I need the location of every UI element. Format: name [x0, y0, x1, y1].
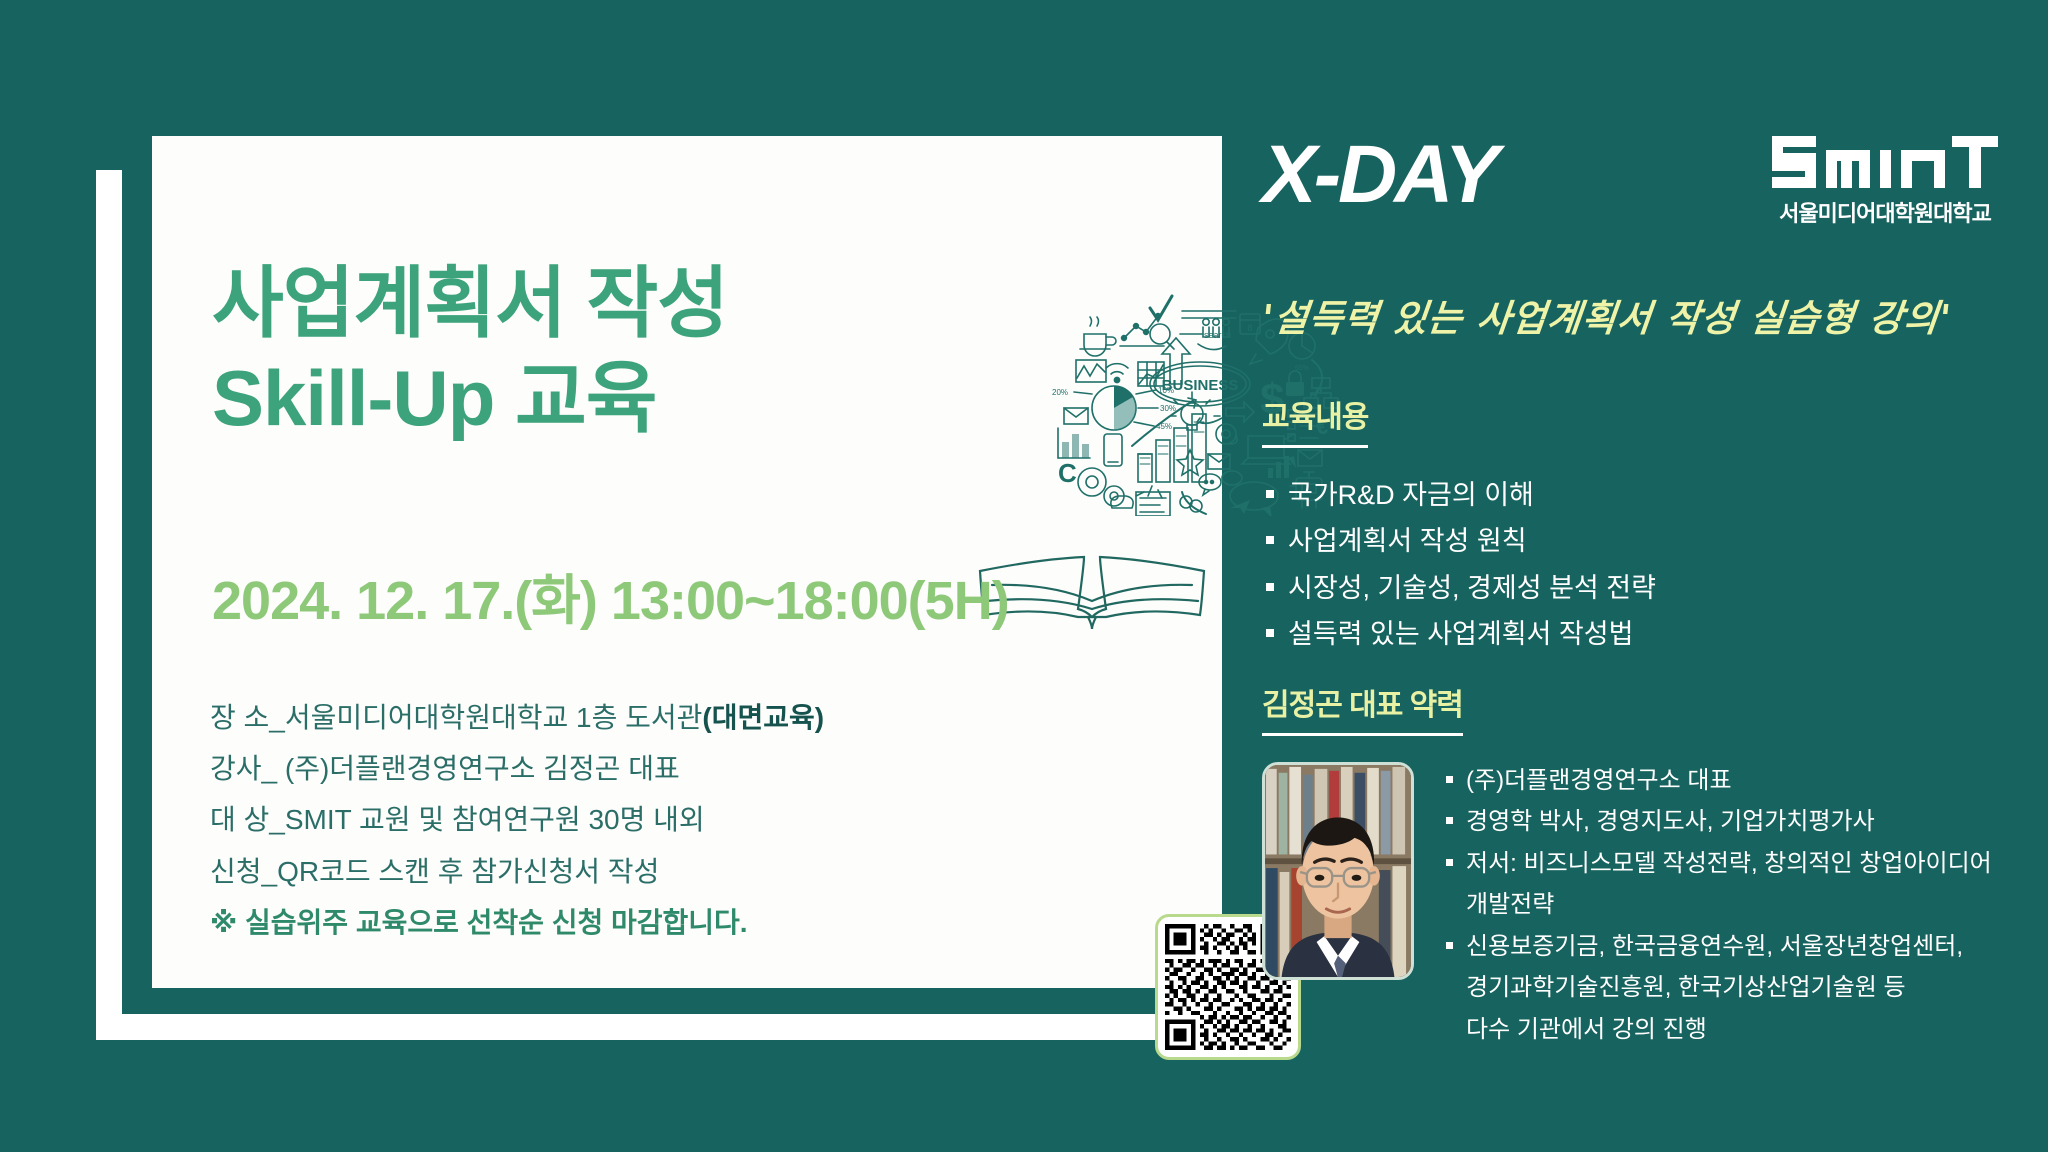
event-datetime: 2024. 12. 17.(화) 13:00~18:00(5H) [212, 556, 1009, 635]
smit-wordmark-icon [1770, 128, 2000, 190]
avatar [1262, 762, 1414, 980]
list-item: 저서: 비즈니스모델 작성전략, 창의적인 창업아이디어 [1442, 845, 1992, 882]
bio-item-continuation: 경기과학기술진흥원, 한국기상산업기술원 등 [1442, 969, 1992, 1006]
svg-text:30%: 30% [1160, 404, 1176, 413]
venue-mode-badge: (대면교육) [702, 702, 824, 733]
list-item: 경영학 박사, 경영지도사, 기업가치평가사 [1442, 803, 1992, 840]
frame-accent-vertical [96, 170, 122, 1040]
smit-logo: 서울미디어대학원대학교 [1770, 128, 2000, 228]
event-details: 장 소_서울미디어대학원대학교 1층 도서관(대면교육) 강사_ (주)더플랜경… [210, 692, 824, 948]
svg-text:10%: 10% [1158, 386, 1174, 395]
right-panel: X-DAY 서울미디어대학원대학교 '설득력 있는 사업계획서 작성 실습형 강… [1262, 0, 2022, 1152]
poster-root: BUSINESS search 8 [0, 0, 2048, 1152]
list-item: 사업계획서 작성 원칙 [1262, 518, 1656, 564]
detail-row-apply: 신청_QR코드 스캔 후 참가신청서 작성 [210, 846, 824, 897]
curriculum-section: 교육내용 국가R&D 자금의 이해 사업계획서 작성 원칙 시장성, 기술성, … [1262, 392, 1656, 658]
frame-accent-horizontal [96, 1014, 1180, 1040]
svg-text:search: search [1204, 330, 1231, 340]
bio-heading: 김정곤 대표 약력 [1262, 680, 1463, 736]
detail-row-instructor: 강사_ (주)더플랜경영연구소 김정곤 대표 [210, 743, 824, 794]
svg-text:C: C [1058, 458, 1077, 488]
main-info-card: BUSINESS search 8 [152, 136, 1222, 988]
detail-row-notice: ※ 실습위주 교육으로 선착순 신청 마감합니다. [210, 897, 824, 948]
bio-list: (주)더플랜경영연구소 대표 경영학 박사, 경영지도사, 기업가치평가사 저서… [1442, 762, 1992, 1052]
svg-text:20%: 20% [1052, 388, 1068, 397]
list-item: 설득력 있는 사업계획서 작성법 [1262, 611, 1656, 657]
list-item: 국가R&D 자금의 이해 [1262, 472, 1656, 518]
instructor-bio-section: 김정곤 대표 약력 [1262, 680, 2022, 1052]
svg-text:8: 8 [1247, 323, 1252, 333]
page-title: 사업계획서 작성 Skill-Up 교육 [212, 256, 728, 446]
list-item: 시장성, 기술성, 경제성 분석 전략 [1262, 565, 1656, 611]
list-item: 신용보증기금, 한국금융연수원, 서울장년창업센터, [1442, 928, 1992, 965]
headline-line-2: Skill-Up 교육 [212, 351, 728, 446]
bio-item-continuation: 개발전략 [1442, 886, 1992, 923]
curriculum-heading: 교육내용 [1262, 392, 1368, 448]
bio-item-line1: 신용보증기금, 한국금융연수원, 서울장년창업센터, [1466, 933, 1963, 960]
bio-item-line1: 저서: 비즈니스모델 작성전략, 창의적인 창업아이디어 [1466, 850, 1992, 877]
list-item: (주)더플랜경영연구소 대표 [1442, 762, 1992, 799]
bio-item-continuation: 다수 기관에서 강의 진행 [1442, 1011, 1992, 1048]
brand-title: X-DAY [1262, 128, 1496, 222]
bio-body: (주)더플랜경영연구소 대표 경영학 박사, 경영지도사, 기업가치평가사 저서… [1262, 762, 2022, 1052]
detail-row-audience: 대 상_SMIT 교원 및 참여연구원 30명 내외 [210, 794, 824, 845]
curriculum-list: 국가R&D 자금의 이해 사업계획서 작성 원칙 시장성, 기술성, 경제성 분… [1262, 472, 1656, 658]
detail-row-venue: 장 소_서울미디어대학원대학교 1층 도서관(대면교육) [210, 692, 824, 743]
smit-logo-subtitle: 서울미디어대학원대학교 [1770, 196, 2000, 228]
headline-line-1: 사업계획서 작성 [212, 259, 728, 347]
tagline: '설득력 있는 사업계획서 작성 실습형 강의' [1259, 288, 1954, 342]
